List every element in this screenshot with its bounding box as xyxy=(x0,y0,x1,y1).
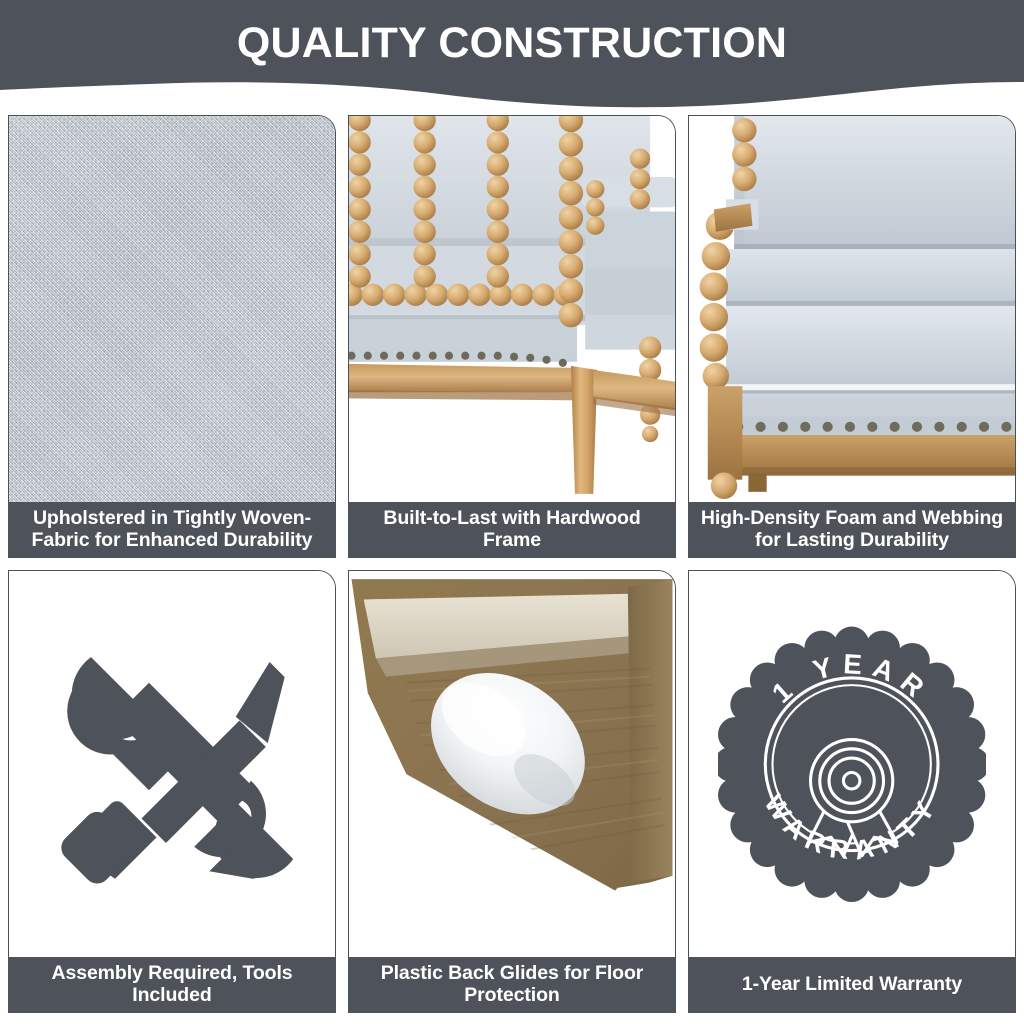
header-banner: QUALITY CONSTRUCTION xyxy=(0,0,1024,112)
feature-card-assembly-tools[interactable]: Assembly Required, Tools Included xyxy=(8,570,336,1013)
chair-frame-illustration xyxy=(349,116,675,502)
tools-icon-panel xyxy=(8,570,336,957)
card-caption-warranty: 1-Year Limited Warranty xyxy=(688,957,1016,1013)
caption-line-1: Built-to-Last with Hardwood xyxy=(383,507,640,529)
icon-holder xyxy=(9,571,335,957)
spindle-chair-frame-photo xyxy=(348,115,676,502)
feature-card-warranty[interactable]: 1 YEAR WARRANTY 1-Year Limited Warranty xyxy=(688,570,1016,1013)
card-caption-hardwood-frame: Built-to-Last with Hardwood Frame xyxy=(348,502,676,558)
caption-line-2: for Lasting Durability xyxy=(701,529,1003,551)
feature-card-foam-webbing[interactable]: High-Density Foam and Webbing for Lastin… xyxy=(688,115,1016,558)
caption-line-2: Frame xyxy=(383,529,640,551)
card-caption-floor-glides: Plastic Back Glides for Floor Protection xyxy=(348,957,676,1013)
feature-card-floor-glides[interactable]: Plastic Back Glides for Floor Protection xyxy=(348,570,676,1013)
caption-line-2: Fabric for Enhanced Durability xyxy=(32,529,313,551)
caption-line-2: Included xyxy=(51,984,292,1006)
caption-line-1: Upholstered in Tightly Woven- xyxy=(32,507,313,529)
glide-illustration xyxy=(349,571,675,957)
icon-holder: 1 YEAR WARRANTY xyxy=(689,571,1015,957)
caption-line-1: Assembly Required, Tools xyxy=(51,962,292,984)
caption-line-1: 1-Year Limited Warranty xyxy=(742,973,962,995)
cushion-illustration xyxy=(689,116,1015,502)
caption-line-2: Protection xyxy=(381,984,644,1006)
one-year-warranty-badge-icon: 1 YEAR WARRANTY xyxy=(718,606,985,923)
page-title: QUALITY CONSTRUCTION xyxy=(0,18,1024,68)
plastic-back-glide-photo xyxy=(348,570,676,957)
card-caption-foam-webbing: High-Density Foam and Webbing for Lastin… xyxy=(688,502,1016,558)
feature-card-grid: Upholstered in Tightly Woven- Fabric for… xyxy=(8,115,1016,1013)
fabric-swatch-image xyxy=(8,115,336,502)
caption-line-1: High-Density Foam and Webbing xyxy=(701,507,1003,529)
woven-fabric-texture xyxy=(9,116,335,502)
card-caption-fabric: Upholstered in Tightly Woven- Fabric for… xyxy=(8,502,336,558)
caption-line-1: Plastic Back Glides for Floor xyxy=(381,962,644,984)
card-caption-assembly-tools: Assembly Required, Tools Included xyxy=(8,957,336,1013)
wrench-screwdriver-icon xyxy=(51,621,292,907)
cushion-closeup-photo xyxy=(688,115,1016,502)
warranty-badge-panel: 1 YEAR WARRANTY xyxy=(688,570,1016,957)
feature-card-hardwood-frame[interactable]: Built-to-Last with Hardwood Frame xyxy=(348,115,676,558)
infographic-page: QUALITY CONSTRUCTION Upholstered in Tigh… xyxy=(0,0,1024,1024)
feature-card-fabric[interactable]: Upholstered in Tightly Woven- Fabric for… xyxy=(8,115,336,558)
